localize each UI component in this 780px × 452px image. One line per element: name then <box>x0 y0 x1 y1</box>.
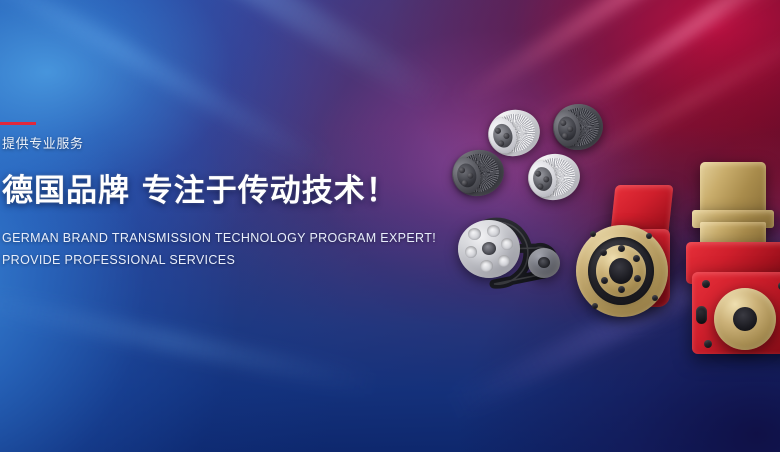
subheadline-line-2: PROVIDE PROFESSIONAL SERVICES <box>2 252 235 269</box>
eyebrow-text: 提供专业服务 <box>2 136 84 154</box>
promo-banner: 提供专业服务 德国品牌 专注于传动技术！ GERMAN BRAND TRANSM… <box>0 0 780 452</box>
light-streak <box>452 0 780 112</box>
headline-text: 德国品牌 专注于传动技术！ <box>2 172 398 210</box>
light-streak <box>586 0 780 105</box>
accent-rule <box>0 122 36 125</box>
subheadline-line-1: GERMAN BRAND TRANSMISSION TECHNOLOGY PRO… <box>2 230 436 247</box>
banner-text-block: 提供专业服务 德国品牌 专注于传动技术！ GERMAN BRAND TRANSM… <box>0 0 400 452</box>
light-streak <box>446 207 780 419</box>
